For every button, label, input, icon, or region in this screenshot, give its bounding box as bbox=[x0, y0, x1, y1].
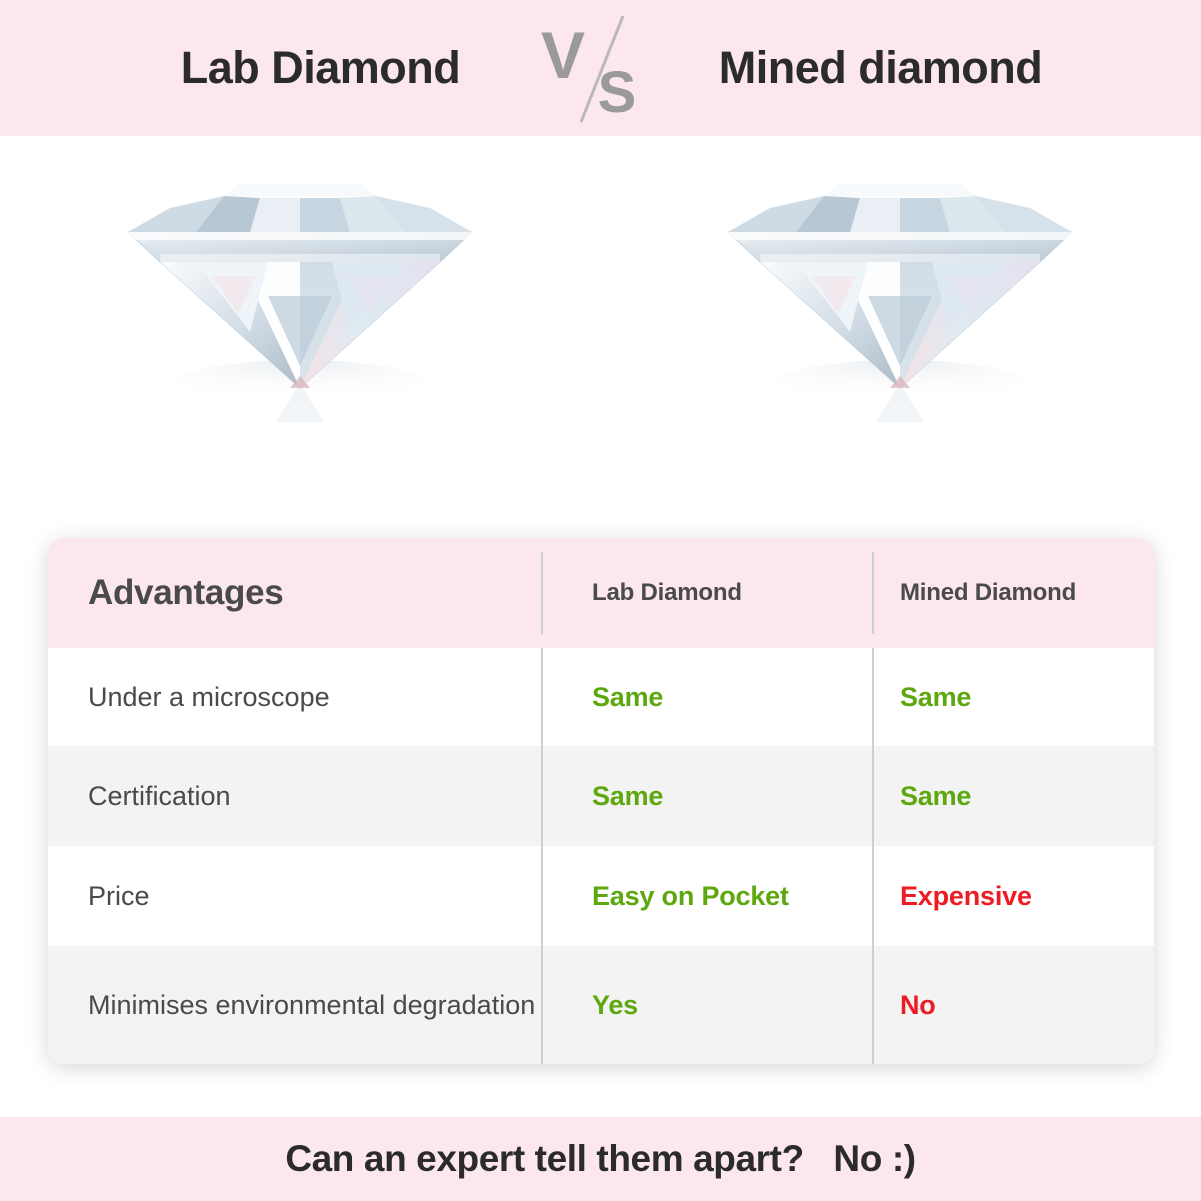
row-lab-value-cell: Yes bbox=[541, 946, 872, 1064]
row-feature-cell: Certification bbox=[48, 746, 541, 846]
comparison-table: Advantages Lab Diamond Mined Diamond Und… bbox=[48, 538, 1154, 1064]
row-mined-value: Same bbox=[900, 781, 971, 812]
row-feature-cell: Under a microscope bbox=[48, 648, 541, 746]
lab-diamond-image-slot bbox=[0, 136, 600, 536]
top-banner: Lab Diamond V S Mined diamond bbox=[0, 0, 1201, 136]
row-mined-value: Same bbox=[900, 682, 971, 713]
svg-text:S: S bbox=[597, 60, 636, 125]
diamond-images-area bbox=[0, 136, 1201, 536]
row-mined-value-cell: Same bbox=[872, 648, 1154, 746]
table-row: Certification Same Same bbox=[48, 746, 1154, 846]
footer-banner: Can an expert tell them apart? No :) bbox=[0, 1117, 1201, 1201]
row-mined-value-cell: No bbox=[872, 946, 1154, 1064]
row-mined-value-cell: Same bbox=[872, 746, 1154, 846]
table-row: Under a microscope Same Same bbox=[48, 648, 1154, 746]
top-banner-inner: Lab Diamond V S Mined diamond bbox=[0, 0, 1201, 136]
footer-question-text: Can an expert tell them apart? No :) bbox=[285, 1138, 915, 1180]
mined-diamond-title: Mined diamond bbox=[661, 42, 1101, 94]
row-feature-label: Price bbox=[88, 877, 150, 915]
row-lab-value: Easy on Pocket bbox=[592, 881, 789, 912]
header-label-mined-diamond: Mined Diamond bbox=[900, 579, 1076, 607]
row-lab-value: Same bbox=[592, 682, 663, 713]
row-lab-value: Same bbox=[592, 781, 663, 812]
svg-text:V: V bbox=[541, 18, 585, 92]
row-feature-label: Minimises environmental degradation bbox=[88, 986, 535, 1024]
row-mined-value: No bbox=[900, 990, 936, 1021]
row-feature-label: Under a microscope bbox=[88, 678, 330, 716]
row-lab-value-cell: Easy on Pocket bbox=[541, 846, 872, 946]
row-feature-label: Certification bbox=[88, 777, 231, 815]
header-cell-mined-diamond: Mined Diamond bbox=[872, 538, 1154, 648]
header-label-advantages: Advantages bbox=[88, 573, 283, 613]
mined-diamond-photo bbox=[700, 136, 1100, 436]
header-cell-advantages: Advantages bbox=[48, 538, 541, 648]
row-lab-value-cell: Same bbox=[541, 746, 872, 846]
row-lab-value: Yes bbox=[592, 990, 638, 1021]
header-cell-lab-diamond: Lab Diamond bbox=[541, 538, 872, 648]
mined-diamond-image-slot bbox=[600, 136, 1200, 536]
row-feature-cell: Price bbox=[48, 846, 541, 946]
table-header-row: Advantages Lab Diamond Mined Diamond bbox=[48, 538, 1154, 648]
lab-diamond-photo bbox=[100, 136, 500, 436]
row-mined-value: Expensive bbox=[900, 881, 1032, 912]
lab-diamond-title: Lab Diamond bbox=[101, 42, 541, 94]
row-mined-value-cell: Expensive bbox=[872, 846, 1154, 946]
row-lab-value-cell: Same bbox=[541, 648, 872, 746]
header-label-lab-diamond: Lab Diamond bbox=[592, 579, 742, 607]
row-feature-cell: Minimises environmental degradation bbox=[48, 946, 541, 1064]
infographic-page: Lab Diamond V S Mined diamond bbox=[0, 0, 1201, 1201]
table-row: Minimises environmental degradation Yes … bbox=[48, 946, 1154, 1064]
vs-icon: V S bbox=[541, 8, 661, 128]
table-row: Price Easy on Pocket Expensive bbox=[48, 846, 1154, 946]
vs-badge: V S bbox=[541, 8, 661, 128]
